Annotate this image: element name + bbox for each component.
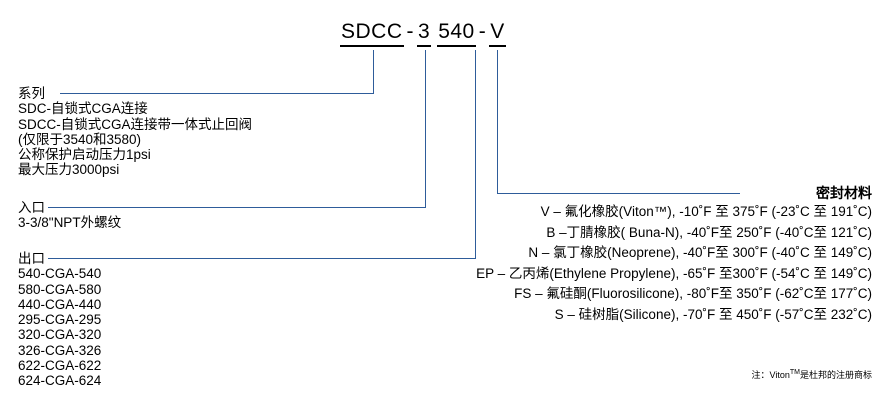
part-segment-outlet: 540	[437, 20, 476, 47]
outlet-option-622: 622-CGA-622	[18, 358, 101, 373]
seal-option-fluorosilicone: FS – 氟硅酮(Fluorosilicone), -80˚F至 350˚F (…	[400, 284, 872, 305]
outlet-heading: 出口	[18, 251, 101, 266]
outlet-option-320: 320-CGA-320	[18, 327, 101, 342]
series-line-3: (仅限于3540和3580)	[18, 132, 252, 147]
seal-option-neoprene: N – 氯丁橡胶(Neoprene), -40˚F至 300˚F (-40˚C …	[400, 243, 872, 264]
inlet-heading: 入口	[18, 200, 121, 215]
footnote-prefix: 注：Viton	[752, 370, 790, 380]
part-number-header: SDCC-3540-V	[340, 20, 506, 47]
series-block: 系列 SDC-自锁式CGA连接 SDCC-自锁式CGA连接带一体式止回阀 (仅限…	[18, 86, 252, 178]
part-segment-inlet: 3	[417, 20, 431, 47]
part-number-diagram: SDCC-3540-V 系列 SDC-自锁式CGA连接 SDCC-自锁式CGA连…	[0, 0, 880, 413]
seal-material-list: V – 氟化橡胶(Viton™), -10˚F 至 375˚F (-23˚C 至…	[400, 202, 872, 325]
outlet-block: 出口 540-CGA-540 580-CGA-580 440-CGA-440 2…	[18, 251, 101, 389]
outlet-option-624: 624-CGA-624	[18, 373, 101, 388]
outlet-option-326: 326-CGA-326	[18, 343, 101, 358]
seal-option-buna-n: B –丁腈橡胶( Buna-N), -40˚F至 250˚F (-40˚C至 1…	[400, 223, 872, 244]
inlet-line-1: 3-3/8"NPT外螺纹	[18, 215, 121, 230]
part-separator-3: -	[476, 20, 490, 44]
seal-option-viton: V – 氟化橡胶(Viton™), -10˚F 至 375˚F (-23˚C 至…	[400, 202, 872, 223]
seal-material-heading: 密封材料	[816, 183, 872, 203]
outlet-option-295: 295-CGA-295	[18, 312, 101, 327]
seal-option-silicone: S – 硅树脂(Silicone), -70˚F 至 450˚F (-57˚C至…	[400, 305, 872, 326]
footnote-suffix: 是杜邦的注册商标	[800, 370, 872, 380]
part-separator-1: -	[404, 20, 418, 44]
inlet-block: 入口 3-3/8"NPT外螺纹	[18, 200, 121, 231]
leader-line-series-vertical	[373, 50, 374, 94]
series-heading: 系列	[18, 86, 252, 101]
series-line-4: 公称保护启动压力1psi	[18, 147, 252, 162]
leader-line-inlet-vertical	[425, 50, 426, 208]
part-segment-series: SDCC	[340, 20, 404, 47]
leader-line-seal-vertical	[497, 50, 498, 194]
outlet-option-580: 580-CGA-580	[18, 282, 101, 297]
outlet-option-440: 440-CGA-440	[18, 297, 101, 312]
series-line-5: 最大压力3000psi	[18, 162, 252, 177]
trademark-footnote: 注：VitonTM是杜邦的注册商标	[752, 368, 872, 381]
footnote-trademark-symbol: TM	[790, 369, 800, 376]
series-line-1: SDC-自锁式CGA连接	[18, 101, 252, 116]
part-segment-seal: V	[489, 20, 506, 47]
series-line-2: SDCC-自锁式CGA连接带一体式止回阀	[18, 117, 252, 132]
outlet-option-540: 540-CGA-540	[18, 266, 101, 281]
leader-line-seal-horizontal	[497, 193, 740, 194]
seal-option-ethylene-propylene: EP – 乙丙烯(Ethylene Propylene), -65˚F 至300…	[400, 264, 872, 285]
